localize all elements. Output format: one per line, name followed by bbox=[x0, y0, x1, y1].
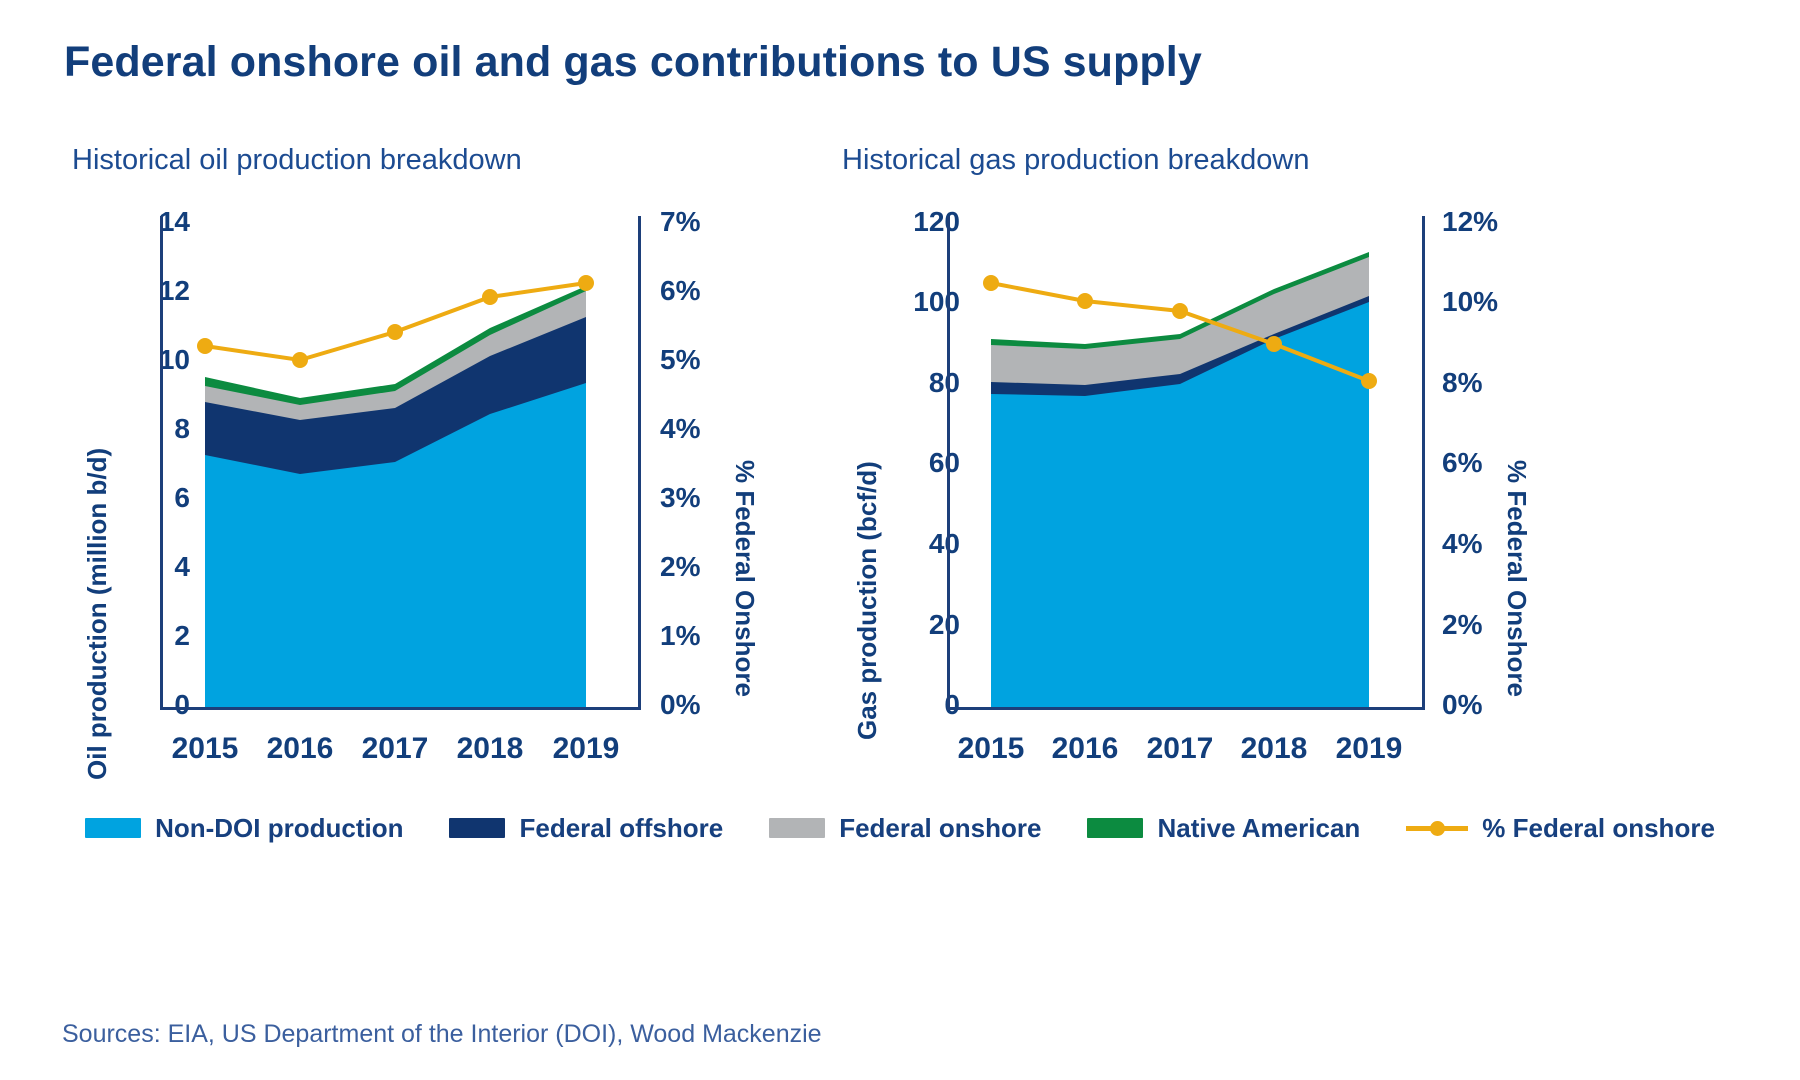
oil-right-spine bbox=[638, 216, 641, 709]
oil-chart-panel: Historical oil production breakdown Oil … bbox=[60, 140, 760, 760]
legend-label-pct-federal-onshore: % Federal onshore bbox=[1482, 813, 1715, 844]
gas-y2tick-10: 10% bbox=[1442, 286, 1562, 318]
oil-bottom-spine bbox=[160, 707, 641, 710]
oil-pct-marker-2019 bbox=[578, 275, 594, 291]
legend-swatch-icon-federal-onshore bbox=[769, 818, 825, 838]
gas-xtick-2016: 2016 bbox=[1052, 732, 1119, 766]
legend-item-federal-offshore[interactable]: Federal offshore bbox=[449, 813, 723, 844]
gas-ytick-120: 120 bbox=[840, 206, 960, 238]
legend-label-native-american: Native American bbox=[1157, 813, 1360, 844]
gas-y2tick-2: 2% bbox=[1442, 609, 1562, 641]
gas-y2-axis-title: % Federal Onshore bbox=[1501, 460, 1532, 697]
legend-item-pct-federal-onshore[interactable]: % Federal onshore bbox=[1406, 813, 1715, 844]
sources-note: Sources: EIA, US Department of the Inter… bbox=[62, 1020, 822, 1049]
gas-right-spine bbox=[1422, 216, 1425, 709]
legend-label-federal-offshore: Federal offshore bbox=[519, 813, 723, 844]
gas-ytick-100: 100 bbox=[840, 286, 960, 318]
oil-y2tick-5: 5% bbox=[660, 344, 760, 376]
oil-y2tick-1: 1% bbox=[660, 620, 760, 652]
oil-y2tick-0: 0% bbox=[660, 689, 760, 721]
gas-xtick-2019: 2019 bbox=[1336, 732, 1403, 766]
legend-swatch-icon-federal-offshore bbox=[449, 818, 505, 838]
gas-y2tick-6: 6% bbox=[1442, 447, 1562, 479]
gas-y2tick-12: 12% bbox=[1442, 206, 1562, 238]
oil-y2tick-3: 3% bbox=[660, 482, 760, 514]
oil-chart-title: Historical oil production breakdown bbox=[72, 144, 522, 177]
gas-y2tick-0: 0% bbox=[1442, 689, 1562, 721]
oil-y2tick-6: 6% bbox=[660, 275, 760, 307]
oil-pct-marker-2016 bbox=[292, 352, 308, 368]
legend-swatch-icon-non-doi bbox=[85, 818, 141, 838]
gas-ytick-20: 20 bbox=[840, 609, 960, 641]
slide-root: Federal onshore oil and gas contribution… bbox=[0, 0, 1800, 1080]
gas-chart-title: Historical gas production breakdown bbox=[842, 144, 1309, 177]
gas-xtick-2018: 2018 bbox=[1241, 732, 1308, 766]
legend-swatch-icon-native-american bbox=[1087, 818, 1143, 838]
gas-y2tick-8: 8% bbox=[1442, 367, 1562, 399]
oil-xtick-2019: 2019 bbox=[553, 732, 620, 766]
gas-pct-marker-2016 bbox=[1077, 293, 1093, 309]
gas-area-svg bbox=[950, 216, 1422, 707]
gas-pct-marker-2015 bbox=[983, 275, 999, 291]
gas-ytick-60: 60 bbox=[840, 447, 960, 479]
oil-xtick-2017: 2017 bbox=[362, 732, 429, 766]
gas-plot-area bbox=[950, 216, 1422, 707]
oil-y2tick-7: 7% bbox=[660, 206, 760, 238]
gas-ytick-0: 0 bbox=[840, 689, 960, 721]
legend-line-marker-icon bbox=[1406, 818, 1468, 838]
gas-ytick-40: 40 bbox=[840, 528, 960, 560]
gas-bottom-spine bbox=[947, 707, 1425, 710]
legend-item-federal-onshore[interactable]: Federal onshore bbox=[769, 813, 1041, 844]
oil-xtick-2018: 2018 bbox=[457, 732, 524, 766]
gas-y2tick-4: 4% bbox=[1442, 528, 1562, 560]
oil-xtick-2016: 2016 bbox=[267, 732, 334, 766]
legend-item-native-american[interactable]: Native American bbox=[1087, 813, 1360, 844]
legend-label-federal-onshore: Federal onshore bbox=[839, 813, 1041, 844]
legend-label-non-doi: Non-DOI production bbox=[155, 813, 403, 844]
oil-pct-marker-2017 bbox=[387, 324, 403, 340]
gas-xtick-2015: 2015 bbox=[958, 732, 1025, 766]
oil-y2tick-2: 2% bbox=[660, 551, 760, 583]
oil-xtick-2015: 2015 bbox=[172, 732, 239, 766]
oil-pct-marker-2018 bbox=[482, 289, 498, 305]
oil-area-svg bbox=[163, 216, 638, 707]
gas-pct-marker-2017 bbox=[1172, 303, 1188, 319]
gas-ytick-80: 80 bbox=[840, 367, 960, 399]
gas-pct-marker-2019 bbox=[1361, 373, 1377, 389]
gas-xtick-2017: 2017 bbox=[1147, 732, 1214, 766]
chart-legend: Non-DOI production Federal offshore Fede… bbox=[0, 798, 1800, 858]
oil-plot-area bbox=[163, 216, 638, 707]
page-title: Federal onshore oil and gas contribution… bbox=[64, 38, 1202, 87]
oil-y2tick-4: 4% bbox=[660, 413, 760, 445]
gas-chart-panel: Historical gas production breakdown Gas … bbox=[830, 140, 1550, 760]
legend-item-non-doi-production[interactable]: Non-DOI production bbox=[85, 813, 403, 844]
oil-pct-marker-2015 bbox=[197, 338, 213, 354]
gas-pct-marker-2018 bbox=[1266, 336, 1282, 352]
